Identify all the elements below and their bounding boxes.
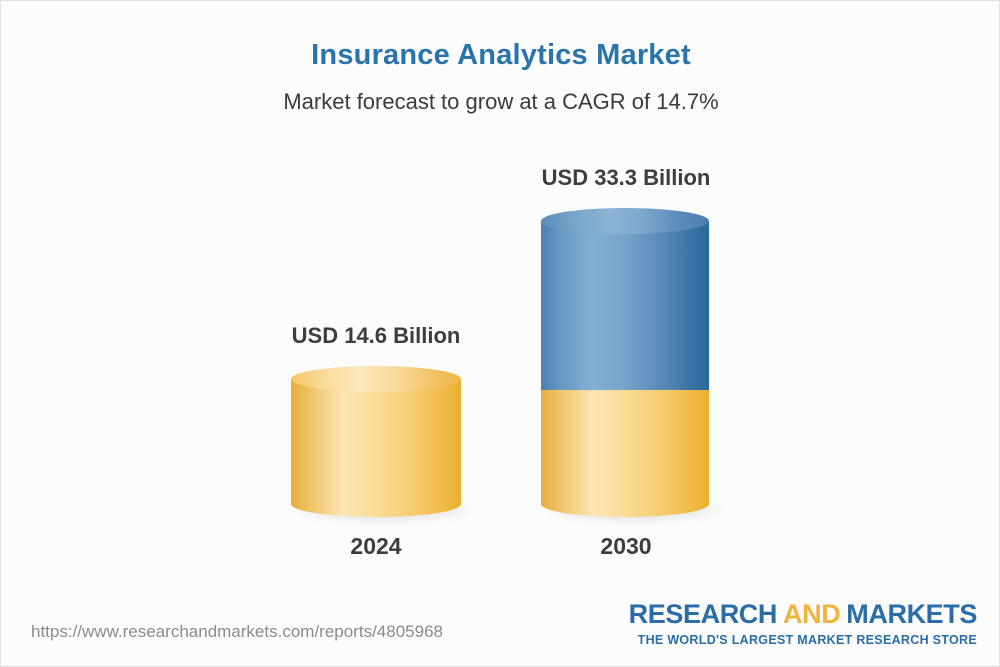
chart-canvas: Insurance Analytics Market Market foreca… bbox=[0, 0, 1000, 667]
brand-word-markets: MARKETS bbox=[846, 599, 977, 629]
brand-wordmark: RESEARCHANDMARKETS bbox=[629, 601, 977, 628]
category-label-2030: 2030 bbox=[531, 533, 721, 560]
cylinder-segment-growth-2030 bbox=[541, 221, 709, 390]
cylinder-segment-base-2030 bbox=[541, 390, 709, 504]
brand-word-and: AND bbox=[783, 599, 840, 629]
cylinder-top-2024 bbox=[291, 366, 461, 392]
plot-area: USD 14.6 Billion 2024 USD 33.3 Billion bbox=[1, 1, 1000, 601]
category-label-2024: 2024 bbox=[281, 533, 471, 560]
brand-logo[interactable]: RESEARCHANDMARKETS THE WORLD'S LARGEST M… bbox=[629, 601, 977, 647]
cylinder-body-2024 bbox=[291, 379, 461, 504]
brand-tagline: THE WORLD'S LARGEST MARKET RESEARCH STOR… bbox=[629, 633, 977, 647]
cylinder-top-2030 bbox=[541, 208, 709, 234]
value-label-2024: USD 14.6 Billion bbox=[281, 323, 471, 349]
report-url[interactable]: https://www.researchandmarkets.com/repor… bbox=[31, 622, 443, 642]
brand-word-research: RESEARCH bbox=[629, 599, 777, 629]
value-label-2030: USD 33.3 Billion bbox=[531, 165, 721, 191]
bar-group-2024: USD 14.6 Billion 2024 bbox=[281, 311, 471, 561]
bar-group-2030: USD 33.3 Billion 2030 bbox=[531, 153, 721, 563]
